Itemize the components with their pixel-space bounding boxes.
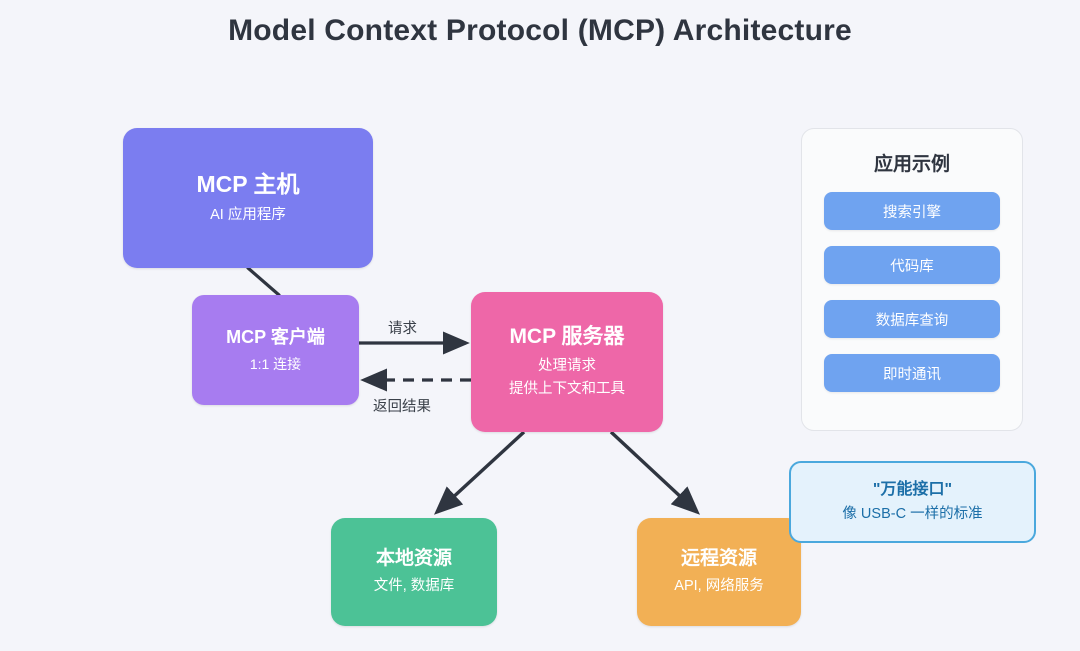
node-client-title: MCP 客户端 bbox=[226, 326, 325, 349]
edge-server-remote bbox=[611, 432, 697, 512]
use-case-chip-label: 数据库查询 bbox=[876, 309, 949, 330]
node-host-subtitle: AI 应用程序 bbox=[210, 205, 286, 226]
edge-label-request: 请求 bbox=[388, 317, 417, 338]
node-host-title: MCP 主机 bbox=[196, 170, 299, 199]
use-case-chip-code-repository[interactable]: 代码库 bbox=[824, 246, 1000, 284]
node-client-subtitle: 1:1 连接 bbox=[250, 354, 301, 374]
edge-server-local bbox=[437, 432, 524, 512]
callout-subtitle: 像 USB-C 一样的标准 bbox=[842, 505, 982, 524]
page-title: Model Context Protocol (MCP) Architectur… bbox=[0, 14, 1080, 48]
node-mcp-server[interactable]: MCP 服务器 处理请求 提供上下文和工具 bbox=[471, 292, 663, 432]
diagram-canvas: Model Context Protocol (MCP) Architectur… bbox=[0, 0, 1080, 651]
use-case-chip-label: 代码库 bbox=[890, 255, 934, 276]
node-server-title: MCP 服务器 bbox=[509, 324, 624, 350]
use-case-chip-database-query[interactable]: 数据库查询 bbox=[824, 300, 1000, 338]
use-case-chip-instant-messaging[interactable]: 即时通讯 bbox=[824, 354, 1000, 392]
node-server-subtitle-2: 提供上下文和工具 bbox=[509, 379, 625, 400]
node-local-subtitle: 文件, 数据库 bbox=[374, 576, 455, 597]
use-case-chip-search-engine[interactable]: 搜索引擎 bbox=[824, 192, 1000, 230]
edge-label-response: 返回结果 bbox=[373, 395, 431, 416]
node-mcp-client[interactable]: MCP 客户端 1:1 连接 bbox=[192, 295, 359, 405]
node-local-resource[interactable]: 本地资源 文件, 数据库 bbox=[331, 518, 497, 626]
node-remote-subtitle: API, 网络服务 bbox=[674, 576, 763, 597]
universal-interface-callout: "万能接口" 像 USB-C 一样的标准 bbox=[789, 461, 1036, 543]
callout-title: "万能接口" bbox=[873, 480, 952, 501]
use-case-chip-label: 即时通讯 bbox=[883, 363, 941, 384]
node-server-subtitle: 处理请求 bbox=[538, 356, 596, 377]
use-case-panel-title: 应用示例 bbox=[824, 149, 1000, 176]
node-remote-title: 远程资源 bbox=[681, 547, 757, 571]
node-mcp-host[interactable]: MCP 主机 AI 应用程序 bbox=[123, 128, 373, 268]
edge-host-client bbox=[248, 268, 279, 295]
use-case-panel: 应用示例 搜索引擎 代码库 数据库查询 即时通讯 bbox=[801, 128, 1023, 431]
node-local-title: 本地资源 bbox=[376, 547, 452, 571]
node-remote-resource[interactable]: 远程资源 API, 网络服务 bbox=[637, 518, 801, 626]
use-case-chip-label: 搜索引擎 bbox=[883, 201, 941, 222]
